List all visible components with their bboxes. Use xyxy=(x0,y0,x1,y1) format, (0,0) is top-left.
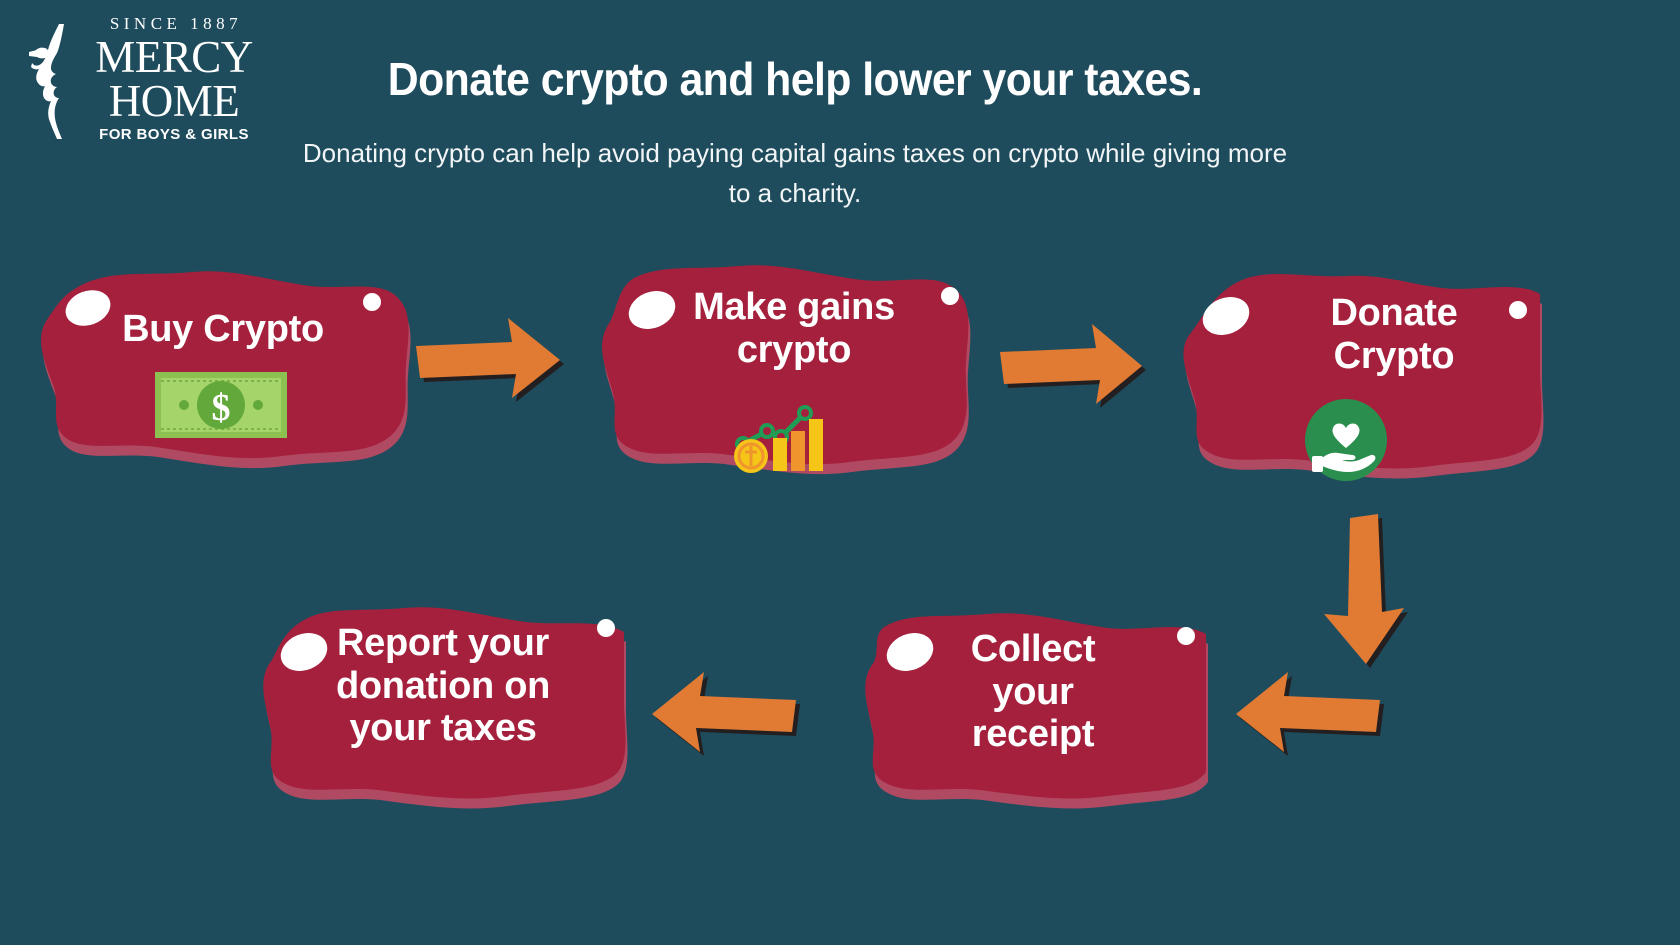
arrow-gains-to-donate xyxy=(996,322,1152,414)
step-card-collect-your-receipt[interactable]: Collect your receipt xyxy=(818,604,1214,816)
arrow-collect-to-report xyxy=(644,668,804,760)
step-card-buy-crypto[interactable]: Buy Crypto $ xyxy=(28,266,418,481)
svg-text:$: $ xyxy=(212,387,231,429)
hand-heart-icon xyxy=(1304,398,1388,482)
dollar-bill-icon: $ xyxy=(154,371,288,439)
mercy-home-logo: SINCE 1887 MERCY HOME FOR BOYS & GIRLS xyxy=(26,14,266,139)
crypto-growth-chart-icon xyxy=(731,391,831,471)
arrow-collect-right-feed xyxy=(1228,668,1388,760)
step-label-donate-crypto: Donate Crypto xyxy=(1254,292,1534,377)
logo-since-text: SINCE 1887 xyxy=(82,14,266,34)
step-card-donate-crypto[interactable]: Donate Crypto xyxy=(1148,262,1544,487)
logo-figure-icon xyxy=(26,22,84,140)
page-subheadline: Donating crypto can help avoid paying ca… xyxy=(300,133,1290,213)
step-card-make-gains-crypto[interactable]: Make gains crypto xyxy=(584,258,980,483)
blob-dot xyxy=(1177,627,1195,645)
page-headline: Donate crypto and help lower your taxes. xyxy=(316,50,1274,108)
step-label-report-donation-on-taxes: Report your donation on your taxes xyxy=(284,622,602,750)
step-label-make-gains-crypto: Make gains crypto xyxy=(644,286,944,371)
step-label-collect-your-receipt: Collect your receipt xyxy=(888,628,1178,756)
infographic-canvas: SINCE 1887 MERCY HOME FOR BOYS & GIRLS D… xyxy=(0,0,1680,945)
logo-tagline: FOR BOYS & GIRLS xyxy=(82,126,266,144)
logo-word-mercy: MERCY xyxy=(82,37,266,78)
logo-word-home: HOME xyxy=(82,81,266,122)
step-label-buy-crypto: Buy Crypto xyxy=(58,308,388,351)
arrow-donate-to-collect xyxy=(1320,512,1412,672)
arrow-buy-to-gains xyxy=(412,316,572,408)
step-card-report-donation-on-taxes[interactable]: Report your donation on your taxes xyxy=(236,590,632,818)
